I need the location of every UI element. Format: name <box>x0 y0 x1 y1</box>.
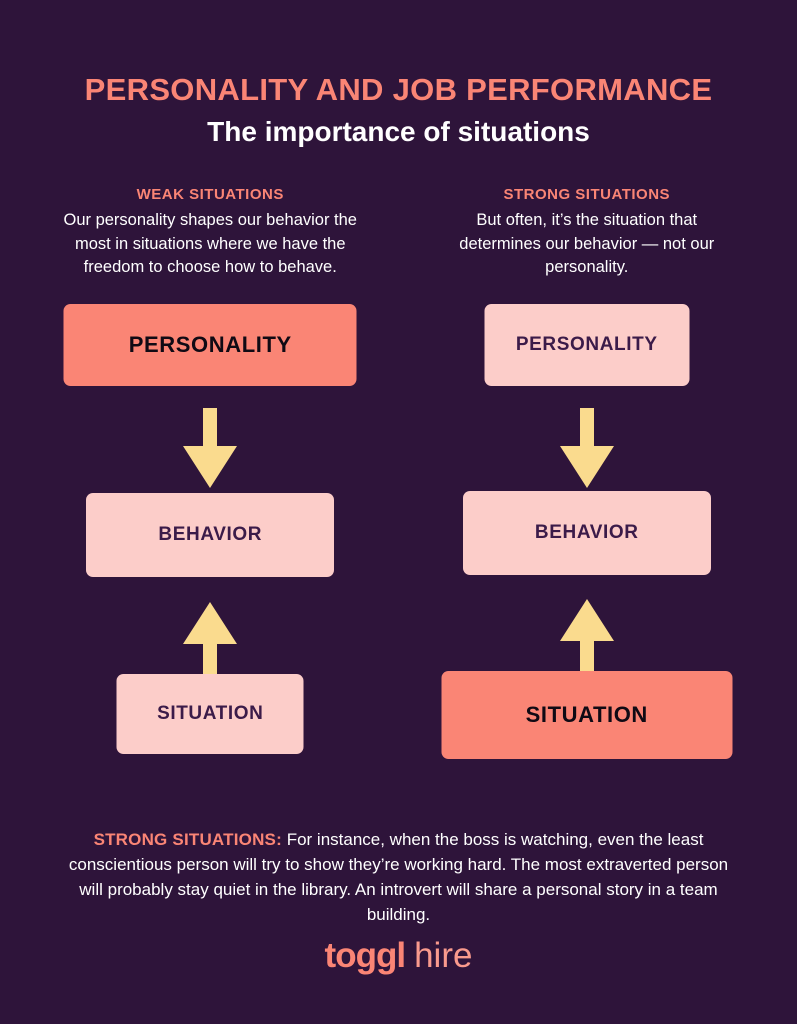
header: PERSONALITY AND JOB PERFORMANCE The impo… <box>0 0 797 148</box>
node-label: BEHAVIOR <box>158 524 262 546</box>
logo-word-hire: hire <box>414 936 472 975</box>
column-description-strong: But often, it’s the situation that deter… <box>437 209 737 279</box>
arrow-up-icon-weak <box>182 600 238 682</box>
node-behavior-weak: BEHAVIOR <box>86 493 334 577</box>
node-situation-strong: SITUATION <box>441 671 732 759</box>
arrow-down-icon-weak <box>182 408 238 490</box>
node-behavior-strong: BEHAVIOR <box>463 491 711 575</box>
node-personality-strong: PERSONALITY <box>484 304 689 386</box>
column-heading-weak: WEAK SITUATIONS <box>137 186 284 203</box>
column-weak-situations: WEAK SITUATIONS Our personality shapes o… <box>22 186 399 773</box>
node-situation-weak: SITUATION <box>117 674 304 754</box>
footnote: STRONG SITUATIONS: For instance, when th… <box>0 828 797 928</box>
infographic-poster: PERSONALITY AND JOB PERFORMANCE The impo… <box>0 0 797 1024</box>
brand-logo: togglhire <box>0 936 797 976</box>
node-label: PERSONALITY <box>129 332 292 358</box>
column-heading-strong: STRONG SITUATIONS <box>503 186 670 203</box>
flow-diagram-weak: PERSONALITY BEHAVIOR SITUATION <box>22 304 399 774</box>
arrow-up-icon-strong <box>559 597 615 679</box>
column-strong-situations: STRONG SITUATIONS But often, it’s the si… <box>399 186 776 773</box>
node-personality-weak: PERSONALITY <box>64 304 357 386</box>
node-label: SITUATION <box>157 703 263 725</box>
column-description-weak: Our personality shapes our behavior the … <box>60 209 360 279</box>
node-label: PERSONALITY <box>516 334 658 356</box>
footnote-label: STRONG SITUATIONS: <box>94 830 282 849</box>
comparison-columns: WEAK SITUATIONS Our personality shapes o… <box>0 186 797 773</box>
node-label: BEHAVIOR <box>535 522 639 544</box>
page-subtitle: The importance of situations <box>0 115 797 149</box>
node-label: SITUATION <box>526 702 648 728</box>
logo-mark-toggl: toggl <box>325 936 406 975</box>
arrow-down-icon-strong <box>559 408 615 490</box>
page-title: PERSONALITY AND JOB PERFORMANCE <box>0 72 797 108</box>
flow-diagram-strong: PERSONALITY BEHAVIOR SITUATION <box>399 304 776 774</box>
